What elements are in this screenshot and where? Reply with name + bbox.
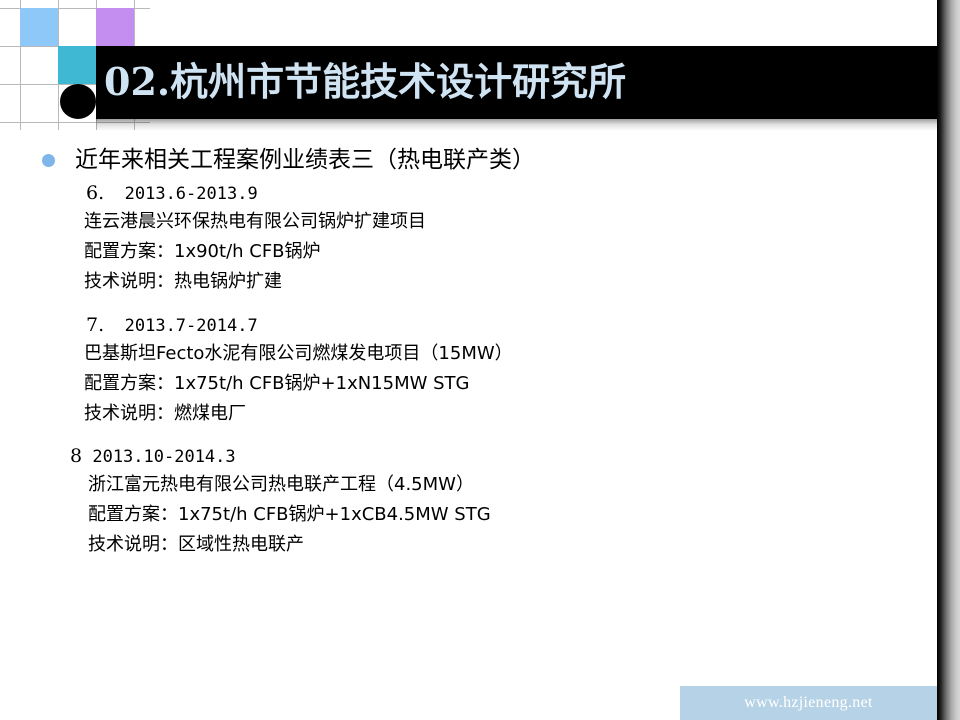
entry-number: 6. bbox=[86, 182, 104, 204]
decorative-square-teal bbox=[58, 46, 96, 84]
entry-project: 连云港晨兴环保热电有限公司锅炉扩建项目 bbox=[84, 207, 937, 237]
entry-description: 技术说明：区域性热电联产 bbox=[88, 530, 937, 560]
title-band-shadow bbox=[96, 119, 937, 131]
entry-heading: 6. 2013.6-2013.9 bbox=[86, 180, 937, 207]
entry-project: 浙江富元热电有限公司热电联产工程（4.5MW） bbox=[88, 470, 937, 500]
entry-period: 2013.6-2013.9 bbox=[125, 184, 258, 204]
slide-canvas: 02.杭州市节能技术设计研究所 近年来相关工程案例业绩表三（热电联产类） 6. … bbox=[0, 0, 960, 720]
footer-bar: www.hzjieneng.net bbox=[680, 686, 937, 720]
entry-heading: 8 2013.10-2014.3 bbox=[70, 443, 937, 470]
lead-bullet-row: 近年来相关工程案例业绩表三（热电联产类） bbox=[42, 146, 535, 174]
decorative-circle-black bbox=[60, 84, 96, 119]
entry-description: 技术说明：热电锅炉扩建 bbox=[84, 267, 937, 297]
decorative-square-blue bbox=[20, 8, 58, 46]
entry-number: 8 bbox=[70, 445, 82, 467]
slide-edge-shadow bbox=[937, 0, 960, 720]
entry-configuration: 配置方案：1x90t/h CFB锅炉 bbox=[84, 237, 937, 267]
entry-heading: 7. 2013.7-2014.7 bbox=[86, 312, 937, 339]
slide-title: 02.杭州市节能技术设计研究所 bbox=[104, 53, 626, 111]
bullet-icon bbox=[42, 154, 55, 167]
entry-period: 2013.7-2014.7 bbox=[125, 316, 258, 336]
footer-url: www.hzjieneng.net bbox=[680, 686, 937, 720]
decorative-square-purple bbox=[96, 8, 134, 46]
entry-number: 7. bbox=[86, 314, 104, 336]
project-entry: 6. 2013.6-2013.9 连云港晨兴环保热电有限公司锅炉扩建项目 配置方… bbox=[0, 180, 937, 297]
entry-period: 2013.10-2014.3 bbox=[92, 447, 235, 467]
entry-project: 巴基斯坦Fecto水泥有限公司燃煤发电项目（15MW） bbox=[84, 339, 937, 369]
project-entry: 8 2013.10-2014.3 浙江富元热电有限公司热电联产工程（4.5MW）… bbox=[0, 443, 937, 560]
entry-description: 技术说明：燃煤电厂 bbox=[84, 399, 937, 429]
lead-text: 近年来相关工程案例业绩表三（热电联产类） bbox=[75, 146, 535, 174]
entry-configuration: 配置方案：1x75t/h CFB锅炉+1xCB4.5MW STG bbox=[88, 500, 937, 530]
entry-configuration: 配置方案：1x75t/h CFB锅炉+1xN15MW STG bbox=[84, 369, 937, 399]
project-entry: 7. 2013.7-2014.7 巴基斯坦Fecto水泥有限公司燃煤发电项目（1… bbox=[0, 312, 937, 429]
